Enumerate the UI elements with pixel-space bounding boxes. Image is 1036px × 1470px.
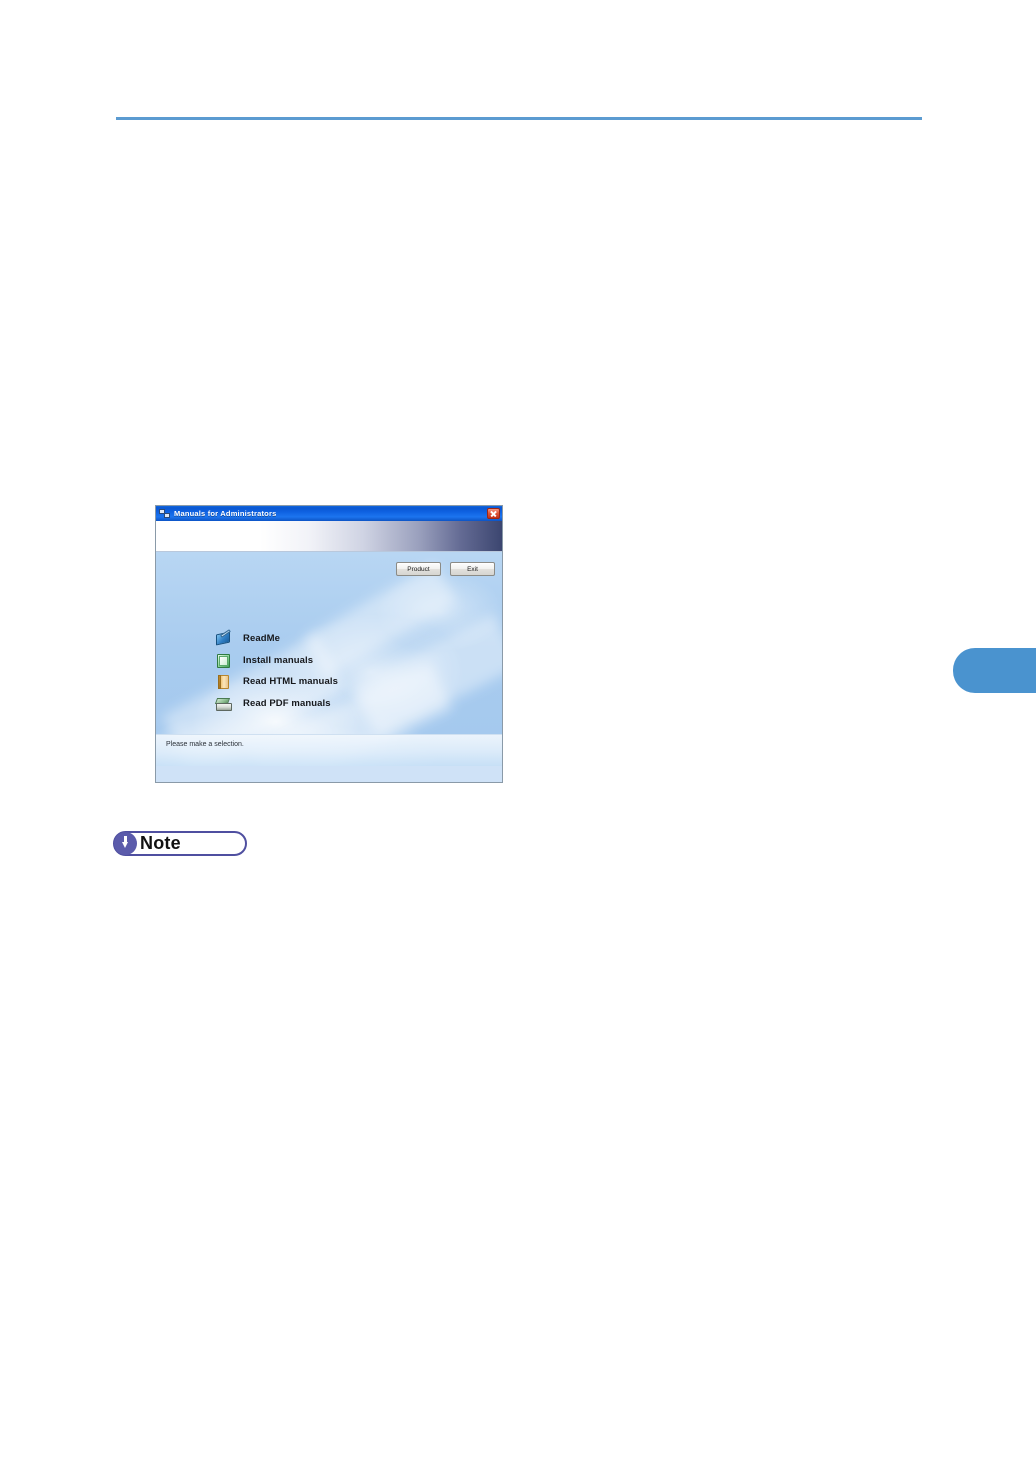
dialog-title: Manuals for Administrators (174, 509, 487, 518)
menu-item-readme[interactable]: ReadMe (214, 628, 338, 650)
down-arrow-icon (122, 836, 129, 849)
menu-item-install-manuals[interactable]: Install manuals (214, 650, 338, 672)
readme-book-icon (214, 630, 233, 647)
chapter-edge-tab (953, 648, 1036, 693)
note-label: Note (140, 833, 181, 854)
menu-item-label: Install manuals (243, 655, 313, 666)
status-message: Please make a selection. (166, 741, 244, 748)
close-icon[interactable] (487, 508, 500, 519)
page-header-rule (116, 117, 922, 120)
pdf-printer-icon (214, 695, 233, 712)
note-badge: Note (113, 831, 247, 856)
menu-item-read-html-manuals[interactable]: Read HTML manuals (214, 671, 338, 693)
install-package-icon (214, 652, 233, 669)
cloud-band (352, 614, 502, 738)
window-app-icon (159, 508, 170, 519)
menu-item-label: ReadMe (243, 633, 280, 644)
dialog-status-bar: Please make a selection. (156, 734, 502, 766)
exit-button[interactable]: Exit (450, 562, 495, 576)
manuals-dialog-figure: Manuals for Administrators Product Exit … (155, 505, 503, 783)
dialog-body: Product Exit ReadMe Install manuals (156, 552, 502, 766)
menu-item-read-pdf-manuals[interactable]: Read PDF manuals (214, 693, 338, 715)
menu-item-label: Read HTML manuals (243, 676, 338, 687)
dialog-button-row: Product Exit (396, 562, 495, 576)
html-book-icon (214, 673, 233, 690)
dialog-titlebar: Manuals for Administrators (156, 506, 502, 521)
product-button[interactable]: Product (396, 562, 441, 576)
dialog-banner (156, 521, 502, 552)
menu-item-label: Read PDF manuals (243, 698, 331, 709)
dialog-menu-list: ReadMe Install manuals Read HTML manuals… (214, 628, 338, 714)
